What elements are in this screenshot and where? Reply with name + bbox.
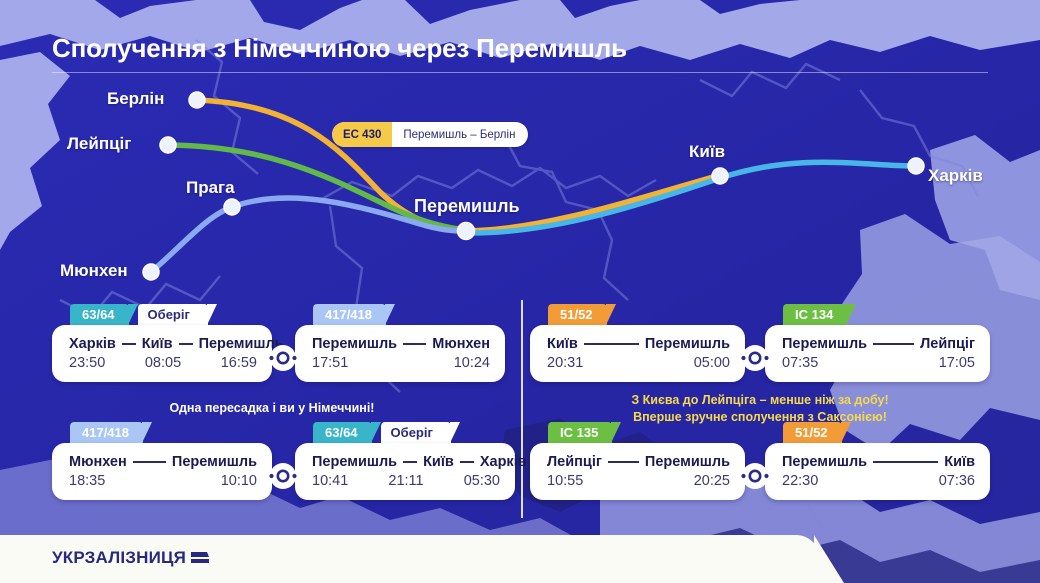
station-origin: Перемишль: [782, 336, 867, 352]
schedule-card-right-top-1: 51/52 Київ Перемишль 20:31 05:00: [530, 304, 745, 382]
station-origin: Перемишль: [312, 454, 397, 470]
time-destination: 20:25: [694, 473, 730, 489]
stations-row: Лейпціг Перемишль: [547, 454, 730, 470]
train-number-tag: 417/418: [70, 422, 143, 443]
caption-right-line2: Вперше зручне сполучення з Саксонією!: [530, 409, 990, 426]
schedule-card-right-top-2: IC 134 Перемишль Лейпціг 07:35 17:05: [765, 304, 990, 382]
time-origin: 22:30: [782, 473, 818, 489]
schedule-card: Харків Київ Перемишль 23:50 08:05 16:59: [52, 325, 272, 382]
schedule-card-left-bottom-2: 63/64 Оберіг Перемишль Київ Харків 10:41…: [295, 422, 515, 500]
leg-dash: [608, 461, 639, 463]
train-number-tag: 63/64: [70, 304, 129, 325]
tag-row: 51/52: [548, 304, 745, 325]
tag-row: IC 134: [783, 304, 990, 325]
station-destination: Перемишль: [645, 454, 730, 470]
station-destination: Лейпціг: [920, 336, 975, 352]
transfer-connector-icon: [266, 341, 300, 375]
times-row: 18:35 10:10: [69, 473, 257, 489]
station-origin: Мюнхен: [69, 454, 127, 470]
station-destination: Перемишль: [172, 454, 257, 470]
train-number-tag: 417/418: [313, 304, 386, 325]
route-badge-ec430: EC 430 Перемишль – Берлін: [332, 122, 528, 147]
transfer-connector-icon: [266, 459, 300, 493]
schedule-card-left-top-1: 63/64 Оберіг Харків Київ Перемишль 23:50…: [52, 304, 272, 382]
stations-row: Перемишль Київ Харків: [312, 454, 500, 470]
station-destination: Перемишль: [645, 336, 730, 352]
time-destination: 07:36: [939, 473, 975, 489]
train-number-tag: IC 134: [783, 304, 847, 325]
station-via: Київ: [142, 336, 173, 352]
stations-row: Київ Перемишль: [547, 336, 730, 352]
city-label-kharkiv: Харків: [928, 166, 983, 186]
page-title: Сполучення з Німеччиною через Перемишль: [52, 33, 627, 64]
stations-row: Перемишль Київ: [782, 454, 975, 470]
time-origin: 20:31: [547, 355, 583, 371]
leg-dash: [122, 343, 136, 345]
tag-row: 63/64 Оберіг: [70, 304, 272, 325]
transfer-connector-icon: [738, 341, 772, 375]
train-number-tag: 51/52: [548, 304, 607, 325]
footer: УКРЗАЛІЗНИЦЯ: [0, 535, 1040, 583]
station-origin: Лейпціг: [547, 454, 602, 470]
brand-logo: УКРЗАЛІЗНИЦЯ: [52, 548, 210, 568]
tag-row: 417/418: [70, 422, 272, 443]
time-via: 21:11: [388, 473, 423, 489]
station-destination: Мюнхен: [432, 336, 490, 352]
train-name-tag: Оберіг: [381, 422, 451, 443]
stations-row: Мюнхен Перемишль: [69, 454, 257, 470]
leg-dash: [179, 343, 193, 345]
caption-left: Одна пересадка і ви у Німеччині!: [52, 401, 492, 415]
route-badge-code: EC 430: [332, 122, 392, 147]
leg-dash: [403, 461, 417, 463]
city-label-przemysl: Перемишль: [414, 196, 520, 217]
schedule-card: Перемишль Лейпціг 07:35 17:05: [765, 325, 990, 382]
schedule-card: Київ Перемишль 20:31 05:00: [530, 325, 745, 382]
station-origin: Перемишль: [782, 454, 867, 470]
station-via: Київ: [423, 454, 454, 470]
times-row: 22:30 07:36: [782, 473, 975, 489]
schedule-card: Перемишль Мюнхен 17:51 10:24: [295, 325, 505, 382]
leg-dash: [873, 461, 938, 463]
times-row: 20:31 05:00: [547, 355, 730, 371]
train-name-tag: Оберіг: [138, 304, 208, 325]
schedule-card: Мюнхен Перемишль 18:35 10:10: [52, 443, 272, 500]
schedule-card: Перемишль Київ Харків 10:41 21:11 05:30: [295, 443, 515, 500]
city-label-prague: Прага: [186, 178, 235, 198]
section-divider: [521, 300, 523, 518]
time-origin: 23:50: [69, 355, 105, 371]
time-via: 08:05: [145, 355, 181, 371]
times-row: 07:35 17:05: [782, 355, 975, 371]
logo-text: УКРЗАЛІЗНИЦЯ: [52, 548, 186, 568]
leg-dash: [873, 343, 914, 345]
schedule-card-right-bottom-2: 51/52 Перемишль Київ 22:30 07:36: [765, 422, 990, 500]
caption-right-line1: З Києва до Лейпціга – менше ніж за добу!: [530, 392, 990, 409]
time-destination: 16:59: [221, 355, 257, 371]
time-destination: 10:24: [454, 355, 490, 371]
city-label-kyiv: Київ: [689, 142, 725, 162]
time-origin: 07:35: [782, 355, 818, 371]
time-destination: 05:30: [464, 473, 500, 489]
schedule-card: Перемишль Київ 22:30 07:36: [765, 443, 990, 500]
station-origin: Київ: [547, 336, 578, 352]
time-destination: 17:05: [939, 355, 975, 371]
leg-dash: [403, 343, 426, 345]
times-row: 17:51 10:24: [312, 355, 490, 371]
time-origin: 17:51: [312, 355, 348, 371]
train-number-tag: 63/64: [313, 422, 372, 443]
station-origin: Харків: [69, 336, 116, 352]
station-destination: Київ: [944, 454, 975, 470]
time-destination: 10:10: [221, 473, 257, 489]
stations-row: Харків Київ Перемишль: [69, 336, 257, 352]
time-origin: 10:55: [547, 473, 583, 489]
tag-row: 63/64 Оберіг: [313, 422, 515, 443]
caption-right: З Києва до Лейпціга – менше ніж за добу!…: [530, 392, 990, 426]
city-label-berlin: Берлін: [107, 89, 164, 109]
schedule-card: Лейпціг Перемишль 10:55 20:25: [530, 443, 745, 500]
city-label-leipzig: Лейпціг: [67, 134, 131, 154]
route-badge-name: Перемишль – Берлін: [392, 122, 528, 147]
train-mark-icon: [188, 548, 210, 568]
leg-dash: [133, 461, 166, 463]
title-divider: [52, 72, 988, 73]
leg-dash: [584, 343, 639, 345]
schedule-card-right-bottom-1: IC 135 Лейпціг Перемишль 10:55 20:25: [530, 422, 745, 500]
time-origin: 18:35: [69, 473, 105, 489]
station-destination: Харків: [480, 454, 527, 470]
times-row: 10:55 20:25: [547, 473, 730, 489]
time-destination: 05:00: [694, 355, 730, 371]
schedule-card-left-bottom-1: 417/418 Мюнхен Перемишль 18:35 10:10: [52, 422, 272, 500]
tag-row: 417/418: [313, 304, 505, 325]
station-origin: Перемишль: [312, 336, 397, 352]
stations-row: Перемишль Лейпціг: [782, 336, 975, 352]
transfer-connector-icon: [738, 459, 772, 493]
time-origin: 10:41: [312, 473, 348, 489]
infographic-root: Сполучення з Німеччиною через Перемишль …: [0, 0, 1040, 583]
times-row: 10:41 21:11 05:30: [312, 473, 500, 489]
schedule-card-left-top-2: 417/418 Перемишль Мюнхен 17:51 10:24: [295, 304, 505, 382]
times-row: 23:50 08:05 16:59: [69, 355, 257, 371]
stations-row: Перемишль Мюнхен: [312, 336, 490, 352]
city-label-munich: Мюнхен: [60, 261, 128, 281]
leg-dash: [460, 461, 474, 463]
